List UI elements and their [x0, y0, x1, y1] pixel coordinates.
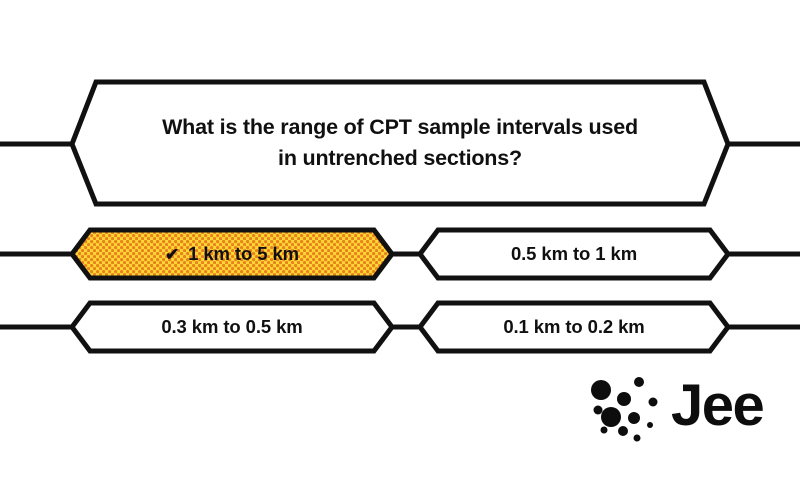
brand-logo: Jee: [585, 370, 775, 442]
question-hexagon: [72, 82, 728, 204]
option-a-shape[interactable]: [0, 230, 422, 278]
brand-wordmark: Jee: [671, 372, 763, 440]
quiz-slide: What is the range of CPT sample interval…: [0, 0, 800, 480]
scatter-dots-icon: [585, 370, 671, 442]
option-d-shape[interactable]: [420, 303, 800, 351]
option-d-hexagon[interactable]: [420, 303, 728, 351]
option-c-shape[interactable]: [0, 303, 422, 351]
option-c-hexagon[interactable]: [72, 303, 392, 351]
option-b-shape[interactable]: [420, 230, 800, 278]
option-b-hexagon[interactable]: [420, 230, 728, 278]
question-card: [0, 82, 800, 204]
option-a-hexagon[interactable]: [72, 230, 392, 278]
